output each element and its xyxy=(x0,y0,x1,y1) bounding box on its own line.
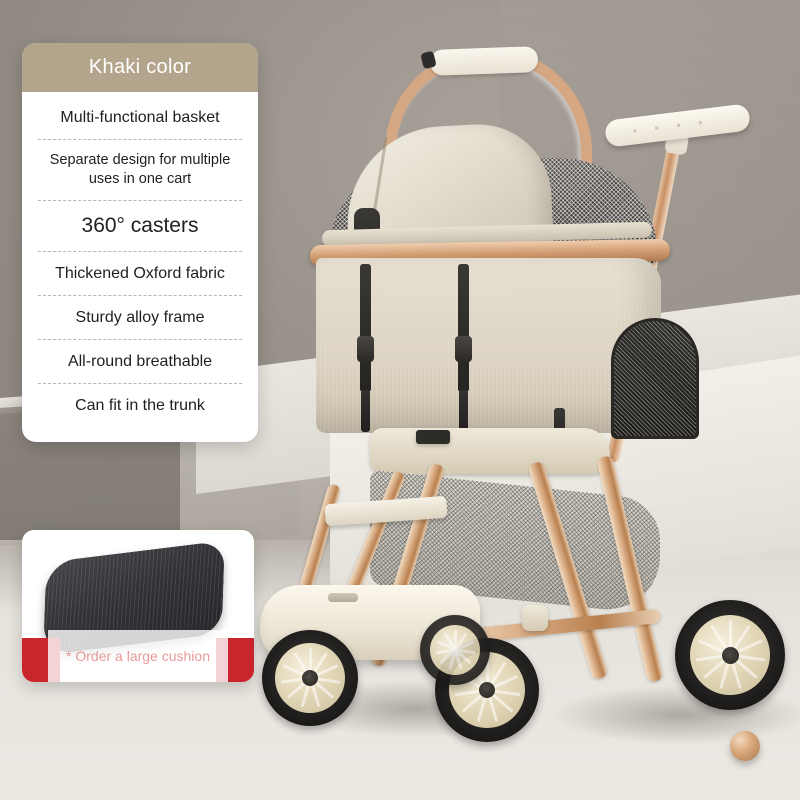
feature-item-360-casters: 360° casters xyxy=(38,200,242,251)
product-image-canvas: Khaki color Multi-functional basket Sepa… xyxy=(0,0,800,800)
strap-buckle-right xyxy=(455,336,472,362)
side-mesh-window xyxy=(611,318,699,439)
feature-item-separate-design: Separate design for multiple uses in one… xyxy=(38,139,242,200)
feature-card: Khaki color Multi-functional basket Sepa… xyxy=(22,43,258,442)
frame-rail-clamp xyxy=(522,605,548,631)
wheel-cap-front-left xyxy=(302,670,318,686)
wheel-cap-front-right xyxy=(479,682,495,698)
carry-handle-grip xyxy=(430,46,539,76)
decorative-sphere xyxy=(730,731,760,761)
feature-item-alloy-frame: Sturdy alloy frame xyxy=(38,295,242,339)
strap-tail-right xyxy=(459,390,468,432)
strap-buckle-left xyxy=(357,336,374,362)
cushion-card: * Order a large cushion xyxy=(22,530,254,682)
wheel-front-inner xyxy=(420,615,490,685)
feature-item-oxford-fabric: Thickened Oxford fabric xyxy=(38,251,242,295)
wheel-rear-right xyxy=(675,600,785,710)
cushion-note-text: * Order a large cushion xyxy=(22,648,254,664)
frame-center-hub xyxy=(370,428,610,474)
feature-card-header: Khaki color xyxy=(22,43,258,92)
frame-lock-button xyxy=(416,430,450,444)
feature-item-breathable: All-round breathable xyxy=(38,339,242,383)
wheel-hub-front-inner xyxy=(430,625,480,675)
wheel-cap-rear-right xyxy=(722,647,739,664)
basket-body xyxy=(316,258,661,433)
wheel-front-left xyxy=(262,630,358,726)
strap-tail-left xyxy=(361,390,370,432)
feature-list: Multi-functional basket Separate design … xyxy=(22,92,258,442)
pod-release-button xyxy=(328,593,358,602)
feature-item-fits-trunk: Can fit in the trunk xyxy=(38,383,242,427)
safety-strap-left xyxy=(360,264,371,392)
safety-strap-right xyxy=(458,264,469,392)
feature-item-multi-functional-basket: Multi-functional basket xyxy=(38,96,242,139)
pet-stroller-product xyxy=(250,30,800,770)
